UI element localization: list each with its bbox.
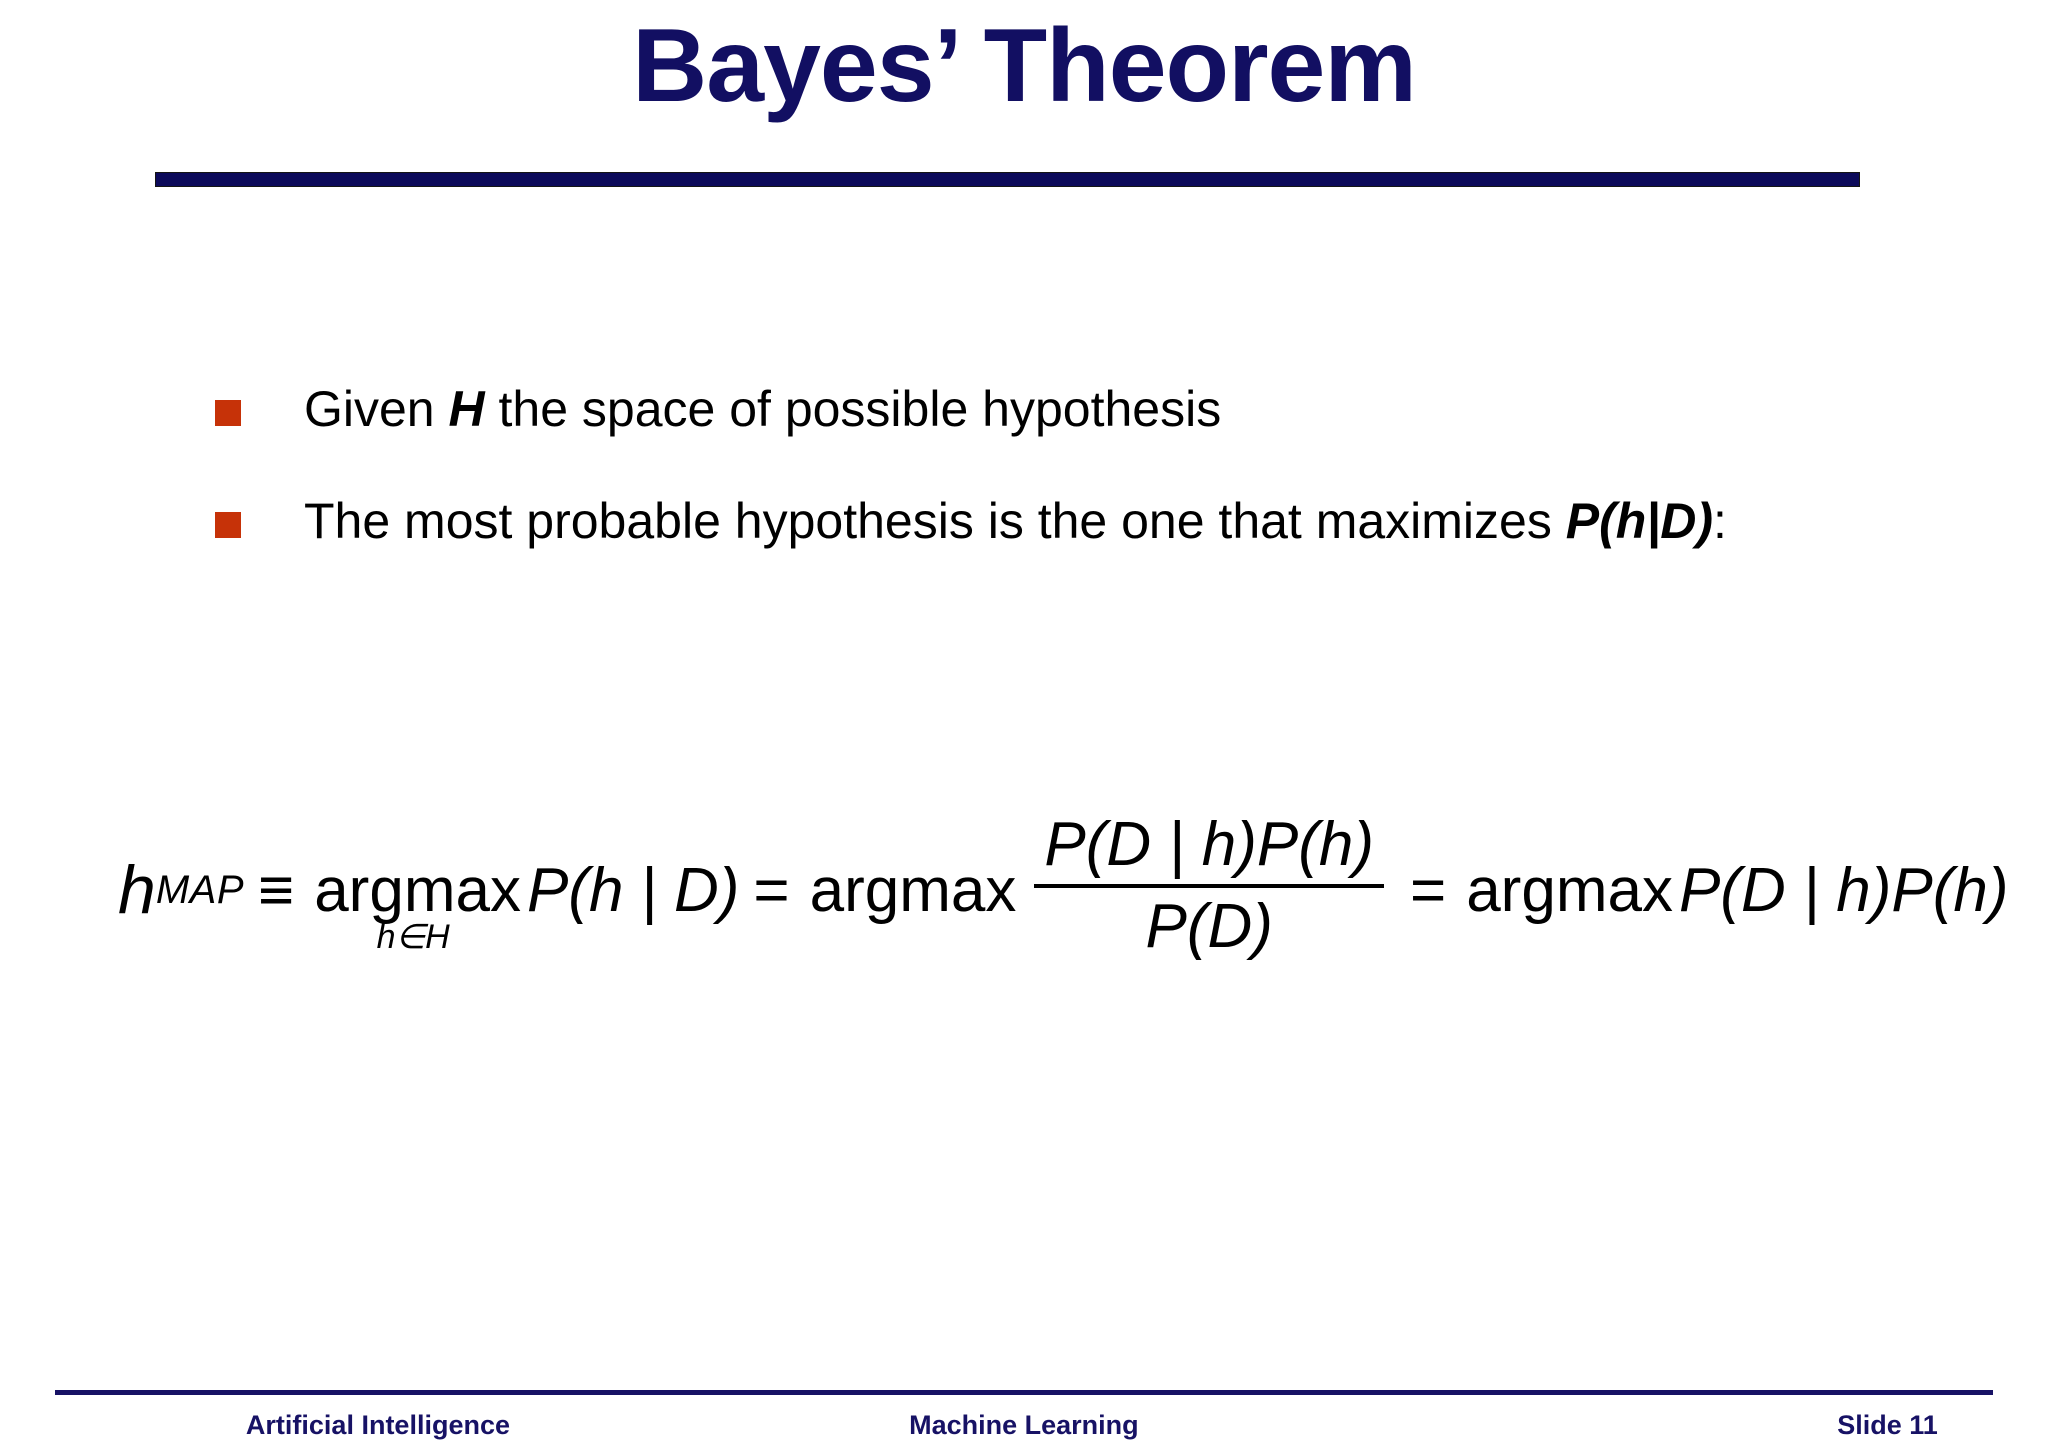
footer-divider (55, 1390, 1993, 1395)
bullet-list: Given H the space of possible hypothesis… (215, 378, 1935, 602)
equivalence-sign: ≡ (258, 855, 294, 926)
argmax-label-2: argmax (810, 855, 1017, 926)
argmax-label-1: argmax (314, 855, 521, 926)
argmax-operator-2: argmax (804, 855, 1023, 926)
equation-lhs-subscript: MAP (156, 868, 244, 913)
bullet-text-1: Given H the space of possible hypothesis (304, 378, 1221, 440)
argmax-subscript-1: h∈H (377, 917, 450, 957)
argmax-label-3: argmax (1466, 855, 1673, 926)
list-item: The most probable hypothesis is the one … (215, 490, 1935, 552)
slide-canvas: Bayes’ Theorem Given H the space of poss… (0, 0, 2048, 1448)
footer-topic-name: Machine Learning (701, 1410, 1347, 1441)
fraction-denominator: P(D) (1135, 888, 1282, 962)
square-bullet-icon (215, 512, 241, 538)
footer-course-name: Artificial Intelligence (55, 1410, 701, 1441)
page-title: Bayes’ Theorem (0, 6, 2048, 126)
argmax-operator-3: argmax (1460, 855, 1679, 926)
bullet-2-seg-2: P(h|D) (1566, 493, 1713, 549)
equation-term-posterior: P(h | D) (527, 855, 739, 926)
equation-term-likelihood-prior: P(D | h)P(h) (1679, 855, 2009, 926)
equation-lhs-variable: h (118, 851, 156, 929)
equals-sign-1: = (753, 855, 789, 926)
title-divider (155, 172, 1860, 187)
bullet-1-seg-1: Given (304, 381, 449, 437)
bullet-2-seg-3: : (1713, 493, 1727, 549)
square-bullet-icon (215, 400, 241, 426)
equals-sign-2: = (1410, 855, 1446, 926)
footer-slide-number: Slide 11 (1347, 1410, 1993, 1441)
slide-footer: Artificial Intelligence Machine Learning… (55, 1402, 1993, 1448)
bullet-2-seg-1: The most probable hypothesis is the one … (304, 493, 1566, 549)
bullet-1-seg-3: the space of possible hypothesis (485, 381, 1222, 437)
bullet-1-seg-2: H (449, 381, 485, 437)
map-equation: hMAP ≡ argmax h∈H P(h | D) = argmax P(D … (118, 800, 1998, 980)
list-item: Given H the space of possible hypothesis (215, 378, 1935, 440)
bayes-fraction: P(D | h)P(h) P(D) (1034, 810, 1384, 962)
argmax-operator-1: argmax h∈H (308, 855, 527, 926)
fraction-numerator: P(D | h)P(h) (1034, 810, 1384, 884)
bullet-text-2: The most probable hypothesis is the one … (304, 490, 1727, 552)
